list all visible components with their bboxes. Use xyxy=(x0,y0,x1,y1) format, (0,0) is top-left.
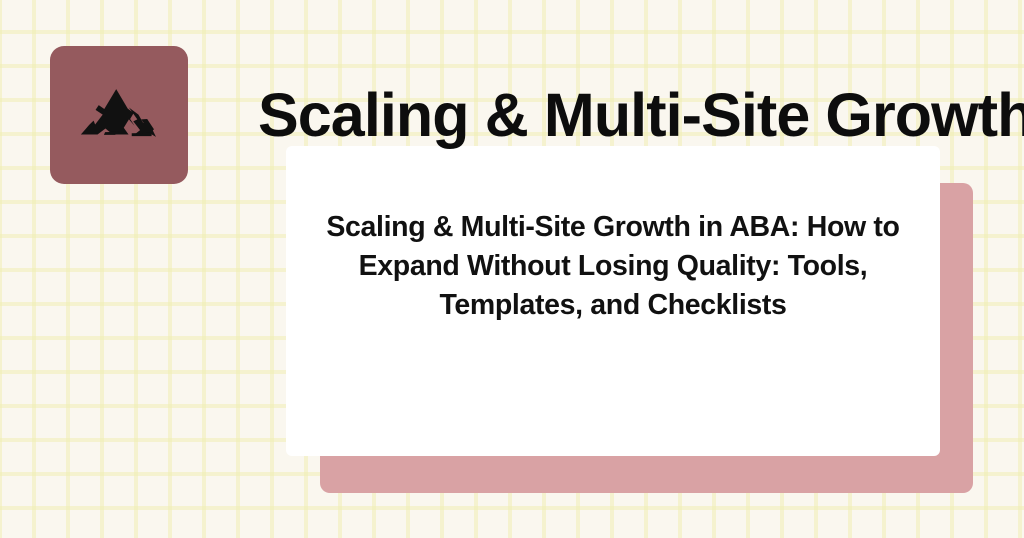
content-card-heading: Scaling & Multi-Site Growth in ABA: How … xyxy=(323,208,903,325)
logo-badge xyxy=(50,46,188,184)
content-card: Scaling & Multi-Site Growth in ABA: How … xyxy=(286,146,940,456)
mountain-icon xyxy=(71,84,167,146)
page-title: Scaling & Multi-Site Growth xyxy=(258,78,1024,152)
